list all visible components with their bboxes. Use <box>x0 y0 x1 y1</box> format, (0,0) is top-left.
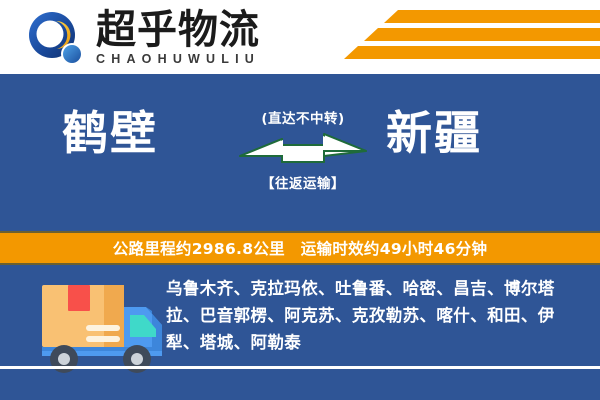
route-arrow-block: (直达不中转) 【往返运输】 <box>238 110 368 216</box>
bidirectional-arrow-icon <box>238 132 368 172</box>
bottom-divider <box>0 366 600 369</box>
chaohu-circle-logo-icon <box>26 10 88 68</box>
distance-duration-text: 公路里程约2986.8公里 运输时效约49小时46分钟 <box>113 237 488 259</box>
orange-speed-stripes-icon <box>340 8 600 66</box>
arrow-caption-bottom: 【往返运输】 <box>238 175 368 193</box>
coverage-city-list: 乌鲁木齐、克拉玛依、吐鲁番、哈密、昌吉、博尔塔拉、巴音郭楞、阿克苏、克孜勒苏、喀… <box>166 275 584 356</box>
brand-name-en: CHAOHUWULIU <box>96 52 296 67</box>
route-panel: 鹤壁 (直达不中转) 【往返运输】 新疆 <box>0 74 600 400</box>
destination-city: 新疆 <box>386 108 482 158</box>
banner-header: 超乎物流 CHAOHUWULIU <box>0 0 600 74</box>
brand-lockup: 超乎物流 CHAOHUWULIU <box>96 9 296 69</box>
arrow-caption-top: (直达不中转) <box>238 110 368 128</box>
route-row: 鹤壁 (直达不中转) 【往返运输】 新疆 <box>0 74 600 229</box>
origin-city: 鹤壁 <box>62 108 158 158</box>
delivery-truck-icon <box>42 273 170 378</box>
brand-name-cn: 超乎物流 <box>96 9 296 51</box>
distance-duration-bar: 公路里程约2986.8公里 运输时效约49小时46分钟 <box>0 231 600 265</box>
logistics-route-banner: 超乎物流 CHAOHUWULIU 鹤壁 (直达不中转) <box>0 0 600 400</box>
coverage-row: 乌鲁木齐、克拉玛依、吐鲁番、哈密、昌吉、博尔塔拉、巴音郭楞、阿克苏、克孜勒苏、喀… <box>0 265 600 400</box>
